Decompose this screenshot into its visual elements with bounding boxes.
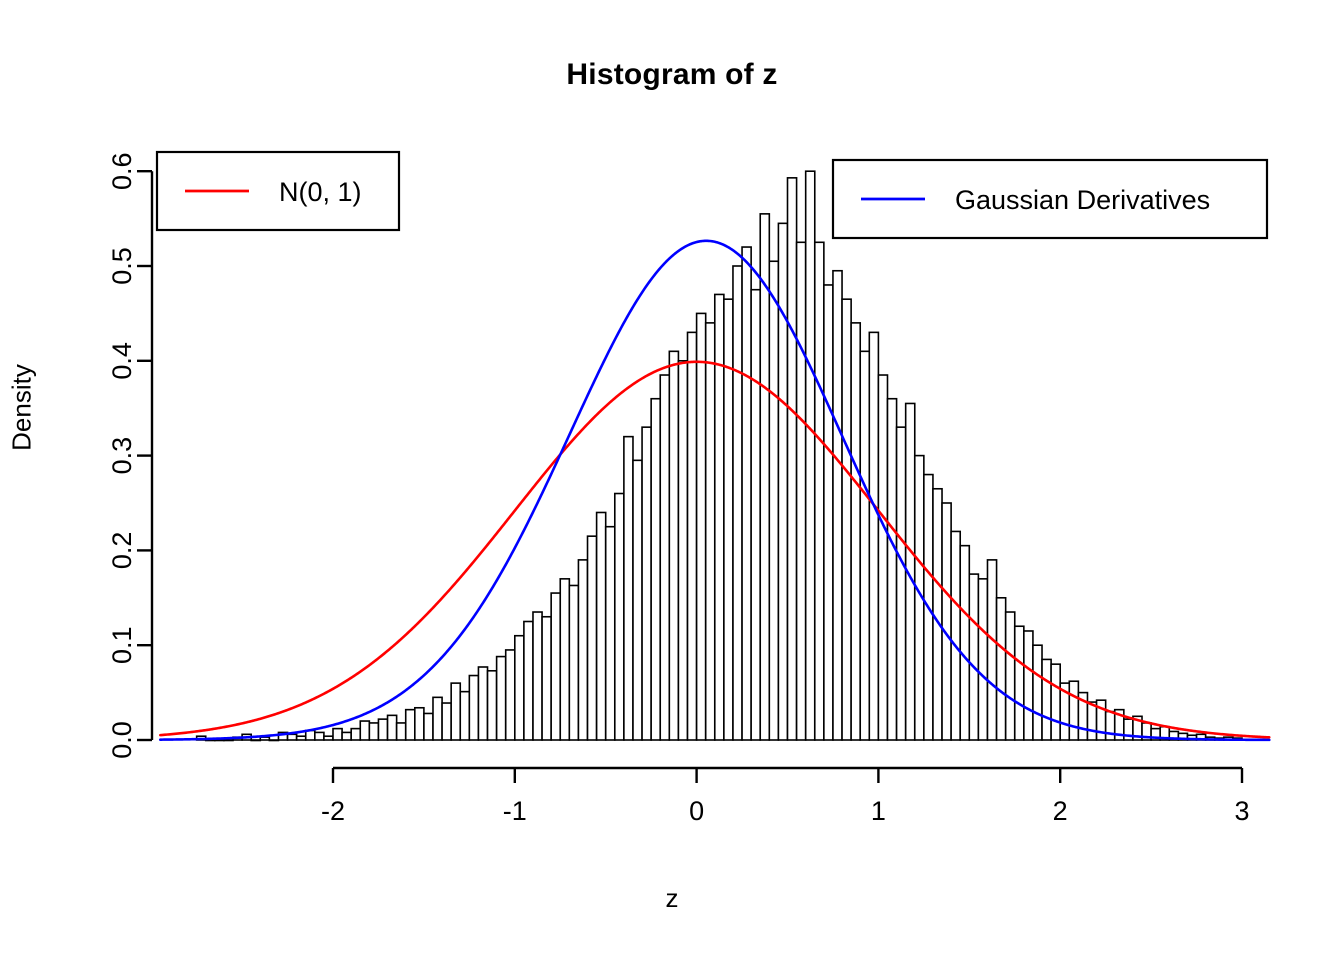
legend-right: Gaussian Derivatives xyxy=(833,160,1267,238)
histogram-bar xyxy=(324,736,333,740)
legend-label: Gaussian Derivatives xyxy=(955,185,1210,215)
histogram-bar xyxy=(1106,712,1115,740)
y-axis-tick-label: 0.3 xyxy=(107,437,137,475)
histogram-bar xyxy=(451,683,460,740)
histogram-bar xyxy=(706,323,715,740)
histogram-bar xyxy=(1006,612,1015,740)
x-axis-tick-label: 0 xyxy=(689,796,704,826)
histogram-bar xyxy=(488,671,497,740)
y-axis-tick-label: 0.1 xyxy=(107,626,137,664)
histogram-bar xyxy=(597,512,606,740)
histogram-bar xyxy=(1024,631,1033,740)
histogram-bar xyxy=(624,437,633,740)
histogram-bar xyxy=(369,723,378,740)
x-axis-tick-label: -2 xyxy=(321,796,345,826)
x-axis-tick-label: 3 xyxy=(1234,796,1249,826)
histogram-bar xyxy=(578,560,587,740)
histogram-bar xyxy=(1069,681,1078,740)
histogram-bar xyxy=(351,729,360,740)
histogram-bar xyxy=(606,527,615,740)
chart-svg: 0.00.10.20.30.40.50.6-2-10123 N(0, 1)Gau… xyxy=(0,0,1344,960)
histogram-bar xyxy=(851,323,860,740)
histogram-bar xyxy=(997,598,1006,740)
histogram-bar xyxy=(397,723,406,740)
histogram-bar xyxy=(642,427,651,740)
legend-label: N(0, 1) xyxy=(279,177,362,207)
histogram-bar xyxy=(478,667,487,740)
histogram-bar xyxy=(1051,664,1060,740)
histogram-bar xyxy=(769,261,778,740)
histogram-bar xyxy=(297,736,306,740)
histogram-bar xyxy=(860,351,869,740)
histogram-bar xyxy=(942,503,951,740)
x-axis-tick-label: 2 xyxy=(1053,796,1068,826)
x-axis-tick-label: -1 xyxy=(503,796,527,826)
histogram-bar xyxy=(388,715,397,740)
histogram-bar xyxy=(433,697,442,740)
histogram-bar xyxy=(869,332,878,740)
histogram-bar xyxy=(833,271,842,740)
histogram-bar xyxy=(824,285,833,740)
histogram-bar xyxy=(688,332,697,740)
histogram-bar xyxy=(551,593,560,740)
histogram-bar xyxy=(797,242,806,740)
histogram-bar xyxy=(506,650,515,740)
histogram-bar xyxy=(951,531,960,740)
histogram-bar xyxy=(669,351,678,740)
histogram-bar xyxy=(560,579,569,740)
histogram-bar xyxy=(1087,702,1096,740)
histogram-bar xyxy=(442,703,451,740)
legend-left: N(0, 1) xyxy=(157,152,399,230)
histogram-bar xyxy=(497,657,506,740)
histogram-bar xyxy=(215,740,224,741)
histogram-bar xyxy=(1015,626,1024,740)
histogram-bar xyxy=(960,546,969,740)
histogram-bar xyxy=(697,313,706,740)
y-axis-tick-label: 0.6 xyxy=(107,152,137,190)
histogram-bar xyxy=(987,560,996,740)
histogram-bar xyxy=(224,740,233,741)
plot-canvas: Histogram of z Density z 0.00.10.20.30.4… xyxy=(0,0,1344,960)
histogram-bar xyxy=(615,494,624,740)
histogram-bar xyxy=(633,460,642,740)
histogram-bar xyxy=(406,710,415,740)
histogram-bar xyxy=(778,223,787,740)
histogram-bar xyxy=(742,247,751,740)
x-axis-tick-label: 1 xyxy=(871,796,886,826)
legends: N(0, 1)Gaussian Derivatives xyxy=(157,152,1267,238)
histogram-bar xyxy=(515,636,524,740)
histogram-bar xyxy=(1042,659,1051,740)
histogram-bar xyxy=(315,732,324,740)
y-axis-tick-label: 0.4 xyxy=(107,342,137,380)
histogram-bar xyxy=(887,399,896,740)
histogram-bar xyxy=(715,294,724,740)
histogram-bar xyxy=(333,729,342,740)
histogram-bar xyxy=(569,585,578,740)
histogram-bar xyxy=(842,299,851,740)
histogram-bar xyxy=(660,375,669,740)
histogram-bar xyxy=(751,290,760,740)
histogram-bar xyxy=(415,708,424,740)
histogram-bar xyxy=(251,740,260,741)
histogram-bar xyxy=(978,579,987,740)
histogram-bar xyxy=(760,214,769,740)
histogram-bar xyxy=(969,574,978,740)
histogram-bar xyxy=(651,399,660,740)
histogram-bar xyxy=(424,713,433,740)
y-axis-tick-label: 0.2 xyxy=(107,532,137,570)
histogram-bar xyxy=(1033,645,1042,740)
histogram-bar xyxy=(588,536,597,740)
histogram-bar xyxy=(342,732,351,740)
histogram-bar xyxy=(533,612,542,740)
histogram-bar xyxy=(378,719,387,740)
histogram-bar xyxy=(469,676,478,740)
histogram-bar xyxy=(269,740,278,741)
histogram-bar xyxy=(897,427,906,740)
histogram-bars xyxy=(197,171,1242,740)
histogram-bar xyxy=(288,734,297,740)
histogram-bar xyxy=(878,375,887,740)
y-axis-tick-label: 0.0 xyxy=(107,721,137,759)
histogram-bar xyxy=(524,622,533,741)
histogram-bar xyxy=(815,242,824,740)
histogram-bar xyxy=(788,178,797,740)
y-axis-tick-label: 0.5 xyxy=(107,247,137,285)
histogram-bar xyxy=(542,617,551,740)
histogram-bar xyxy=(678,361,687,740)
histogram-bar xyxy=(733,266,742,740)
histogram-bar xyxy=(360,721,369,740)
histogram-bar xyxy=(460,692,469,740)
histogram-bar xyxy=(806,171,815,740)
